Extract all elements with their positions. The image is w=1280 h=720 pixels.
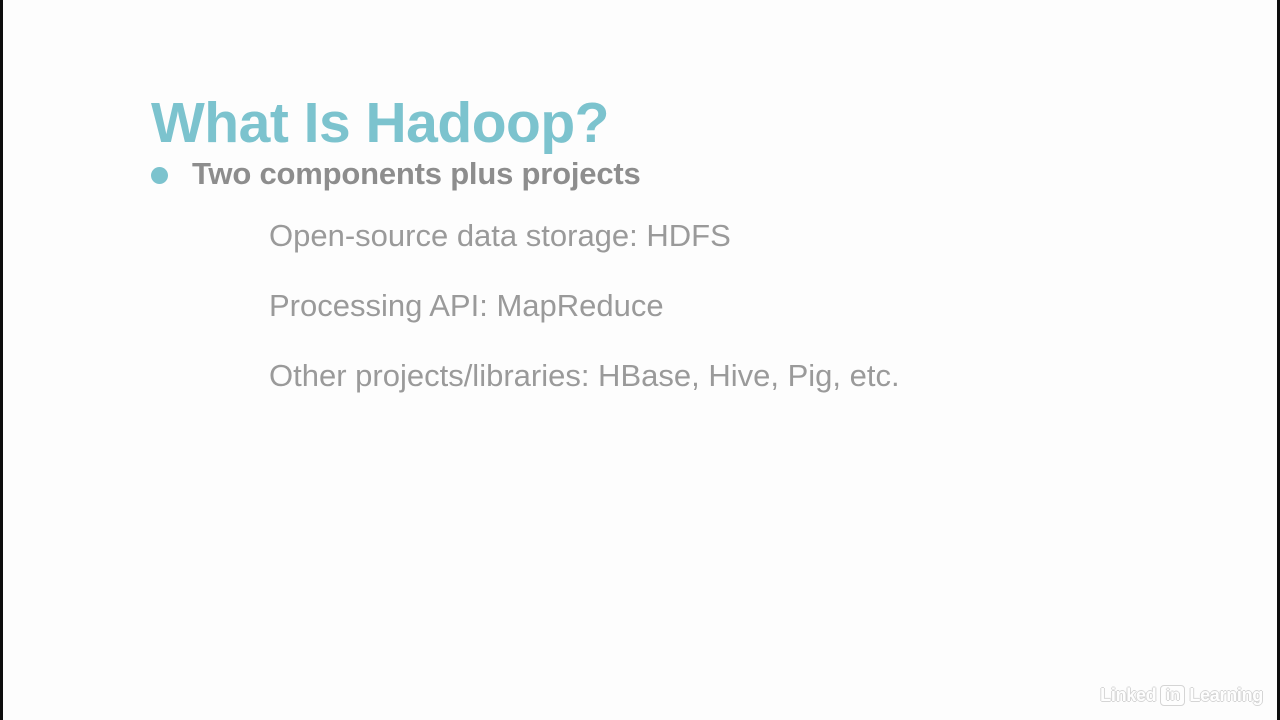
filled-circle-bullet-icon	[151, 167, 168, 184]
presentation-slide: What Is Hadoop? Two components plus proj…	[0, 0, 1280, 720]
sub-item-label: Open-source data storage: HDFS	[269, 218, 731, 253]
list-item: Open-source data storage: HDFS	[151, 220, 1151, 290]
list-item: Processing API: MapReduce	[151, 290, 1151, 360]
list-item: Two components plus projects	[151, 150, 1151, 198]
bullet-label: Two components plus projects	[192, 156, 641, 192]
page-title: What Is Hadoop?	[151, 94, 609, 154]
watermark-word-linked: Linked	[1100, 684, 1156, 706]
sub-item-list: Open-source data storage: HDFS Processin…	[151, 220, 1151, 430]
linkedin-in-badge-icon: in	[1160, 685, 1185, 706]
sub-item-label: Processing API: MapReduce	[269, 288, 664, 323]
list-item: Other projects/libraries: HBase, Hive, P…	[151, 360, 1151, 430]
sub-item-label: Other projects/libraries: HBase, Hive, P…	[269, 358, 900, 393]
slide-body: Two components plus projects Open-source…	[151, 150, 1151, 430]
watermark-word-learning: Learning	[1189, 684, 1263, 706]
linkedin-learning-watermark: Linked in Learning	[1100, 684, 1263, 706]
